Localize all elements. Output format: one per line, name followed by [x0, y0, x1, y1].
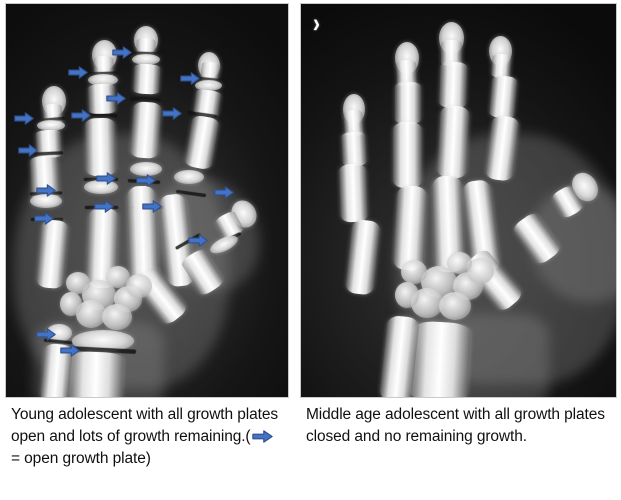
- xray-image-left: [6, 4, 288, 397]
- carpal-triquetrum: [66, 272, 90, 294]
- radius: [68, 351, 124, 397]
- caption-line-1: Young adolescent with all: [11, 406, 183, 423]
- index-middle-phalanx: [341, 131, 367, 166]
- little-proximal-epiphysis: [174, 170, 204, 184]
- caption-line-3-prefix: growth remaining.(: [124, 428, 251, 445]
- middle-metacarpal: [393, 185, 427, 270]
- ring-middle-phalanx: [133, 63, 161, 94]
- ring-proximal-phalanx: [130, 101, 162, 159]
- middle-proximal-phalanx: [85, 118, 116, 177]
- ring-proximal-phalanx: [437, 105, 470, 178]
- left-panel-caption: Young adolescent with all growth plates …: [11, 404, 283, 470]
- caption-line-3-suffix: = open: [11, 450, 58, 467]
- caption-line-4: growth plate): [62, 450, 150, 467]
- ring-middle-phalanx: [439, 62, 468, 109]
- carpal-pisiform: [60, 292, 82, 316]
- index-proximal-epiphysis: [30, 194, 62, 208]
- middle-proximal-epiphysis: [84, 180, 118, 194]
- middle-middle-physis: [86, 114, 117, 117]
- carpal-lunate: [439, 292, 471, 320]
- middle-age-adolescent-xray-panel: ›: [300, 3, 617, 398]
- xray-image-right: ›: [301, 4, 616, 397]
- carpal-pisiform: [395, 282, 419, 308]
- middle-middle-phalanx: [88, 84, 116, 115]
- young-adolescent-xray-panel: [5, 3, 289, 398]
- little-middle-phalanx: [489, 75, 518, 119]
- carpal-lunate: [102, 304, 132, 330]
- ring-proximal-epiphysis: [130, 162, 162, 176]
- caption-line-3: remaining growth.: [405, 428, 527, 445]
- middle-middle-phalanx: [395, 82, 421, 124]
- carpal-triquetrum: [401, 260, 427, 284]
- blue-right-arrow-icon: [252, 430, 273, 443]
- carpal-trapezoid: [106, 266, 130, 288]
- middle-proximal-phalanx: [393, 122, 422, 188]
- index-proximal-phalanx: [339, 164, 368, 223]
- ulna: [40, 343, 73, 397]
- caption-line-1: Middle age adolescent with all: [306, 406, 510, 423]
- laterality-marker-icon: ›: [313, 10, 321, 37]
- right-panel-caption: Middle age adolescent with all growth pl…: [306, 404, 606, 448]
- carpal-trapezoid: [447, 252, 472, 274]
